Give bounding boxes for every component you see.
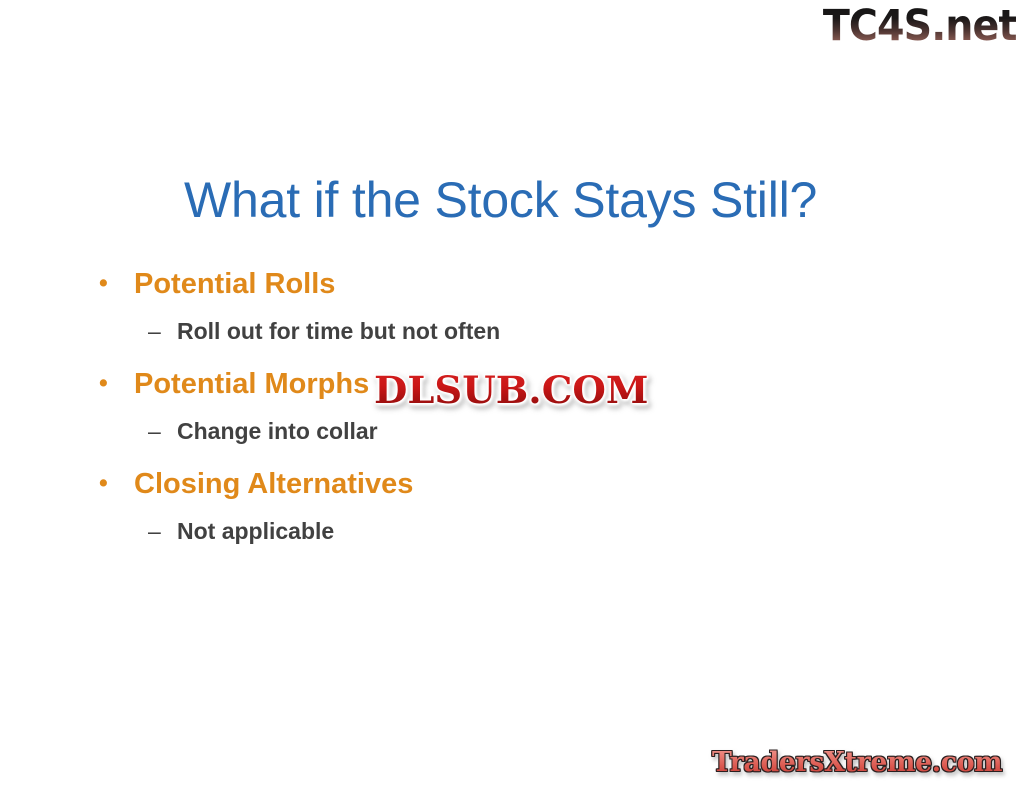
bullet-dot-icon: •	[99, 269, 108, 298]
bullet-dot-icon: •	[99, 369, 108, 398]
presentation-slide: TC4S.net What if the Stock Stays Still? …	[0, 0, 1024, 791]
bullet-group-3: • Closing Alternatives – Not applicable	[0, 464, 1024, 564]
bullet-dot-icon: •	[99, 469, 108, 498]
sub-bullet-label: Roll out for time but not often	[177, 318, 500, 345]
bullet-item-level1: • Potential Rolls	[0, 264, 1024, 315]
bullet-item-label: Potential Rolls	[134, 268, 335, 301]
bullet-group-1: • Potential Rolls – Roll out for time bu…	[0, 264, 1024, 364]
dash-icon: –	[148, 518, 161, 545]
dash-icon: –	[148, 318, 161, 345]
tradersxtreme-watermark: TradersXtreme.com	[712, 746, 1002, 780]
dash-icon: –	[148, 418, 161, 445]
sub-bullet-label: Not applicable	[177, 518, 334, 545]
bullet-item-level2: – Not applicable	[0, 515, 1024, 564]
bullet-item-label: Potential Morphs	[134, 368, 369, 401]
dlsub-watermark: DLSUB.COM	[374, 369, 648, 411]
page-title: What if the Stock Stays Still?	[184, 171, 817, 229]
bullet-item-label: Closing Alternatives	[134, 468, 413, 501]
bullet-item-level1: • Closing Alternatives	[0, 464, 1024, 515]
sub-bullet-label: Change into collar	[177, 418, 378, 445]
bullet-item-level2: – Roll out for time but not often	[0, 315, 1024, 364]
bullet-list: • Potential Rolls – Roll out for time bu…	[0, 264, 1024, 564]
bullet-item-level2: – Change into collar	[0, 415, 1024, 464]
tc4s-brand-logo: TC4S.net	[822, 2, 1016, 50]
